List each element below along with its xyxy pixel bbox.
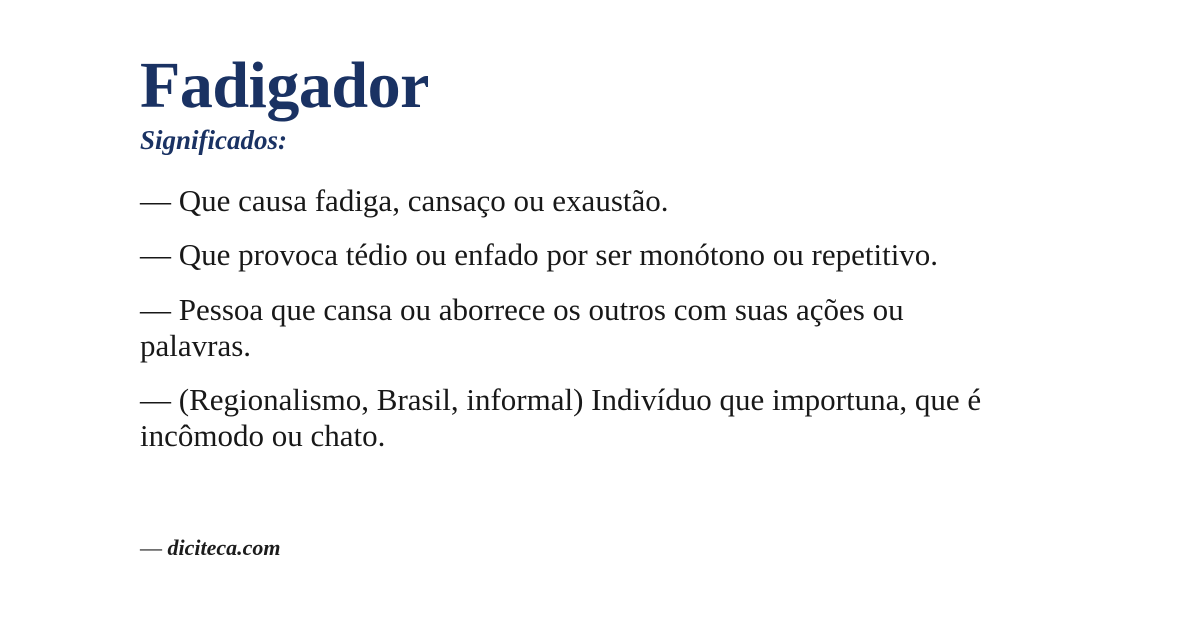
definition-item: — Que provoca tédio ou enfado por ser mo… <box>140 237 1010 273</box>
em-dash-marker: — <box>140 292 179 327</box>
dictionary-definition-card: Fadigador Significados: — Que causa fadi… <box>0 0 1200 628</box>
definition-text: Pessoa que cansa ou aborrece os outros c… <box>140 292 904 363</box>
definition-item: — Pessoa que cansa ou aborrece os outros… <box>140 292 1010 365</box>
source-name: diciteca.com <box>168 535 281 560</box>
definition-text: Que causa fadiga, cansaço ou exaustão. <box>179 183 669 218</box>
source-attribution: — diciteca.com <box>140 535 281 561</box>
definition-item: — Que causa fadiga, cansaço ou exaustão. <box>140 183 1010 219</box>
page-title: Fadigador <box>140 53 429 119</box>
definition-item: — (Regionalismo, Brasil, informal) Indiv… <box>140 382 1010 455</box>
definition-list: — Que causa fadiga, cansaço ou exaustão.… <box>140 183 1010 455</box>
definition-text: (Regionalismo, Brasil, informal) Indivíd… <box>140 382 981 453</box>
em-dash-marker: — <box>140 382 179 417</box>
meanings-section-label: Significados: <box>140 126 287 154</box>
definition-text: Que provoca tédio ou enfado por ser monó… <box>179 237 938 272</box>
em-dash-marker: — <box>140 183 179 218</box>
em-dash-marker: — <box>140 535 168 560</box>
em-dash-marker: — <box>140 237 179 272</box>
